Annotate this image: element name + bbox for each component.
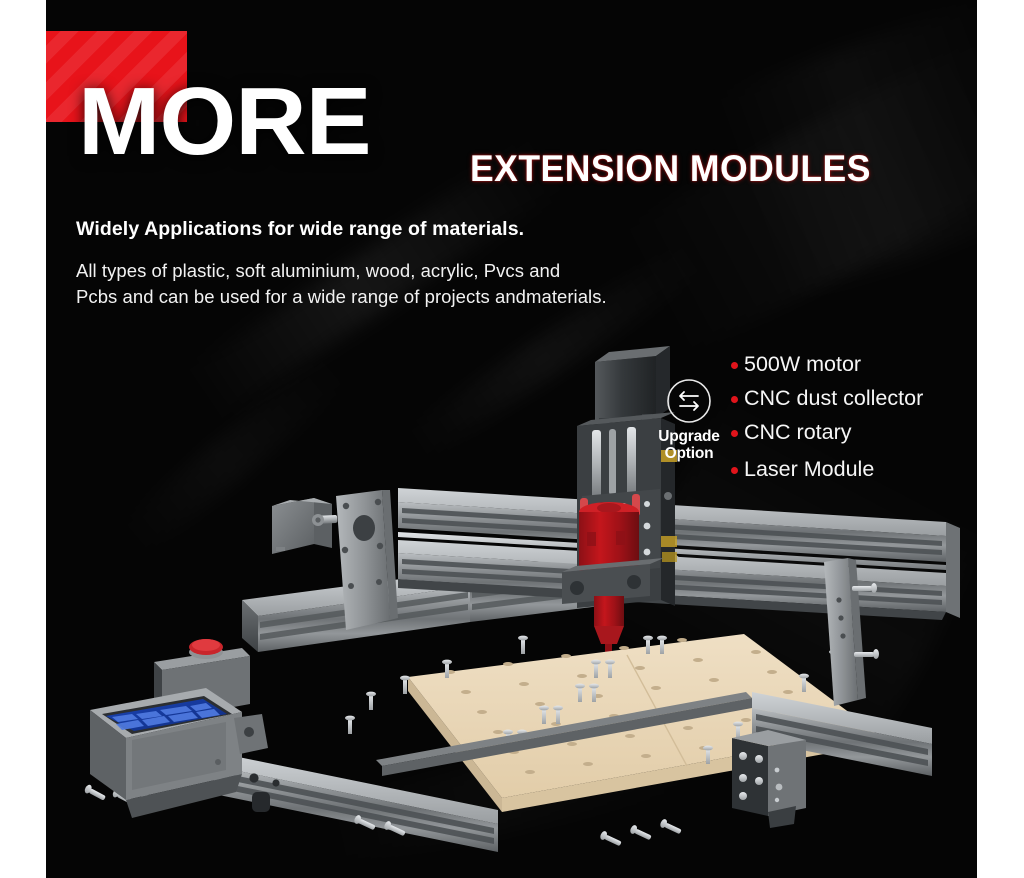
feature-label: CNC dust collector xyxy=(744,386,923,411)
upgrade-option-caption: Upgrade Option xyxy=(641,428,737,463)
bullet-dot-icon xyxy=(731,430,738,437)
bullet-dot-icon xyxy=(731,362,738,369)
feature-item: CNC dust collector xyxy=(731,386,923,411)
upgrade-option-badge: Upgrade Option xyxy=(641,378,737,463)
left-end-plate xyxy=(336,490,398,630)
page-title: MORE xyxy=(78,78,371,166)
page-subtitle: EXTENSION MODULES xyxy=(470,148,871,190)
control-pendant xyxy=(90,639,250,818)
tagline: Widely Applications for wide range of ma… xyxy=(76,218,524,241)
feature-item: CNC rotary xyxy=(731,420,923,445)
feature-label: 500W motor xyxy=(744,352,861,377)
dark-backdrop: MORE EXTENSION MODULES Widely Applicatio… xyxy=(46,0,977,878)
exchange-arrows-icon xyxy=(666,378,712,424)
upgrade-caption-line-2: Option xyxy=(641,445,737,462)
feature-list: 500W motor CNC dust collector CNC rotary… xyxy=(731,352,923,482)
feature-item: 500W motor xyxy=(731,352,923,377)
emergency-stop-button xyxy=(189,639,223,659)
feature-item: Laser Module xyxy=(731,457,923,482)
upgrade-caption-line-1: Upgrade xyxy=(641,428,737,445)
feature-label: Laser Module xyxy=(744,457,874,482)
right-end-plate xyxy=(234,714,268,754)
product-banner: MORE EXTENSION MODULES Widely Applicatio… xyxy=(0,0,1024,878)
bullet-dot-icon xyxy=(731,396,738,403)
exploded-stepper-motor xyxy=(272,498,337,554)
feature-label: CNC rotary xyxy=(744,420,852,445)
description-line-1: All types of plastic, soft aluminium, wo… xyxy=(76,258,607,284)
bullet-dot-icon xyxy=(731,467,738,474)
